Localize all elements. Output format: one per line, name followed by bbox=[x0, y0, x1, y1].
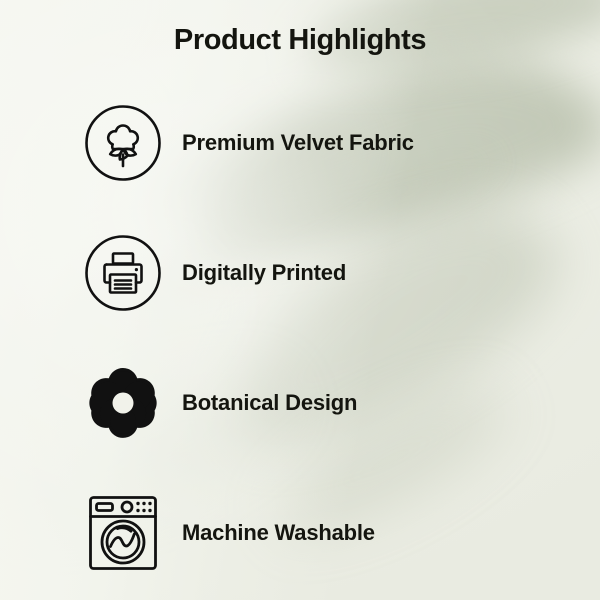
list-item-label: Botanical Design bbox=[182, 390, 357, 416]
flower-icon bbox=[84, 364, 162, 442]
poster-content: Product Highlights Premium Velvet Fabric bbox=[0, 0, 600, 600]
list-item-label: Digitally Printed bbox=[182, 260, 346, 286]
washing-machine-icon bbox=[84, 494, 162, 572]
list-item: Machine Washable bbox=[0, 468, 600, 598]
printer-icon bbox=[84, 234, 162, 312]
list-item: Botanical Design bbox=[0, 338, 600, 468]
feature-list: Premium Velvet Fabric Digitally Printed bbox=[0, 78, 600, 598]
product-highlights-poster: Product Highlights Premium Velvet Fabric bbox=[0, 0, 600, 600]
list-item: Premium Velvet Fabric bbox=[0, 78, 600, 208]
list-item-label: Machine Washable bbox=[182, 520, 375, 546]
list-item: Digitally Printed bbox=[0, 208, 600, 338]
list-item-label: Premium Velvet Fabric bbox=[182, 130, 414, 156]
page-title: Product Highlights bbox=[0, 24, 600, 57]
cotton-boll-icon bbox=[84, 104, 162, 182]
